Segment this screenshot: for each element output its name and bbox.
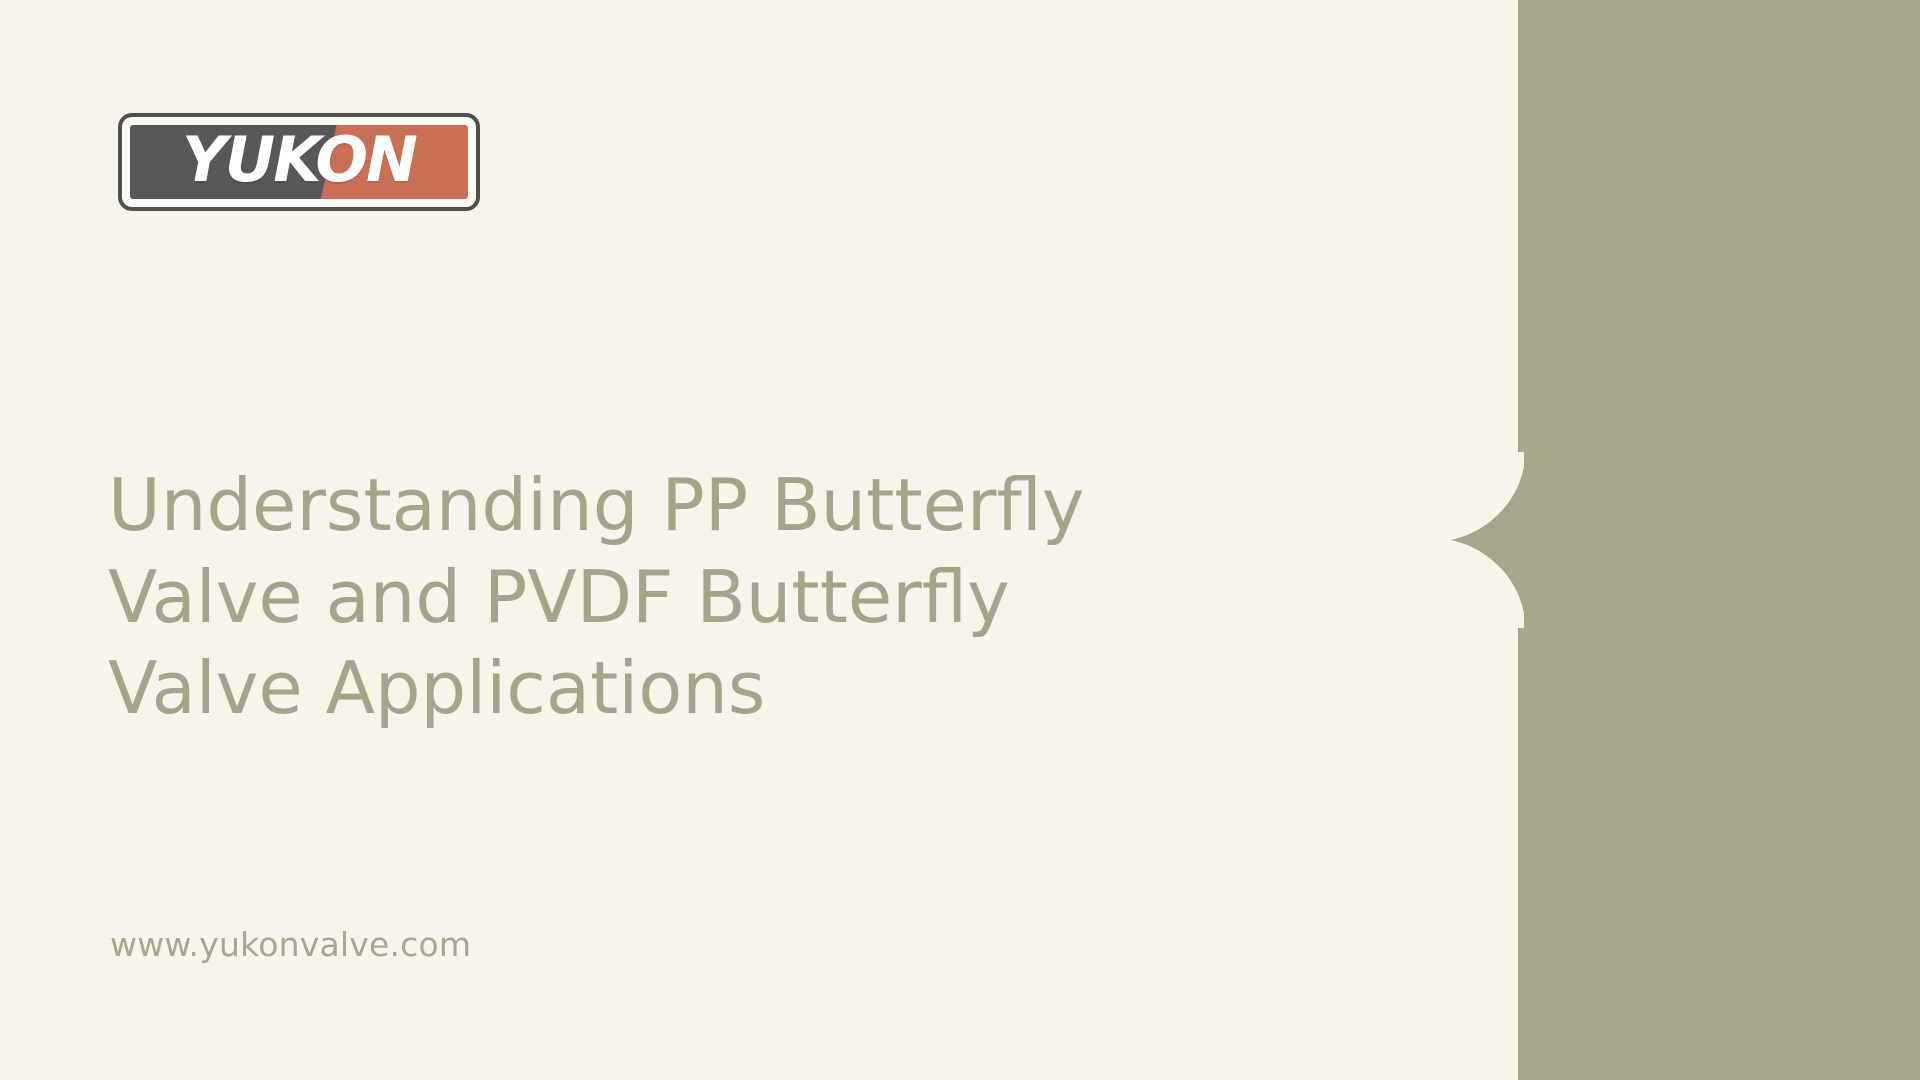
- website-url[interactable]: www.yukonvalve.com: [110, 925, 471, 964]
- title-line-3: Valve Applications: [108, 643, 1288, 734]
- panel-leaf-notch-decoration: [1432, 452, 1524, 628]
- presentation-slide: YUKON Understanding PP Butterfly Valve a…: [0, 0, 1920, 1080]
- logo-wordmark: YUKON: [118, 113, 480, 211]
- right-accent-panel: [1518, 0, 1920, 1080]
- title-line-2: Valve and PVDF Butterfly: [108, 552, 1288, 643]
- slide-title: Understanding PP Butterfly Valve and PVD…: [108, 460, 1288, 734]
- yukon-logo[interactable]: YUKON: [118, 113, 480, 211]
- notch-upper-arc: [1432, 452, 1524, 540]
- notch-lower-arc: [1432, 540, 1524, 628]
- title-line-1: Understanding PP Butterfly: [108, 460, 1288, 551]
